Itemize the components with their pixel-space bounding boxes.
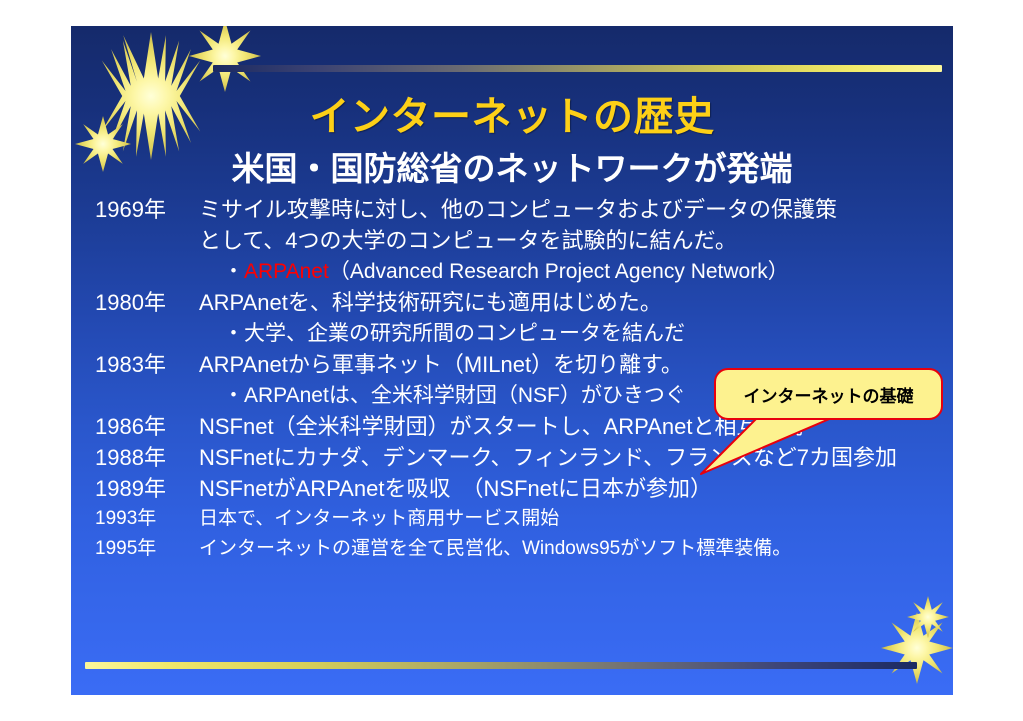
timeline-text: NSFnetがARPAnetを吸収 （NSFnetに日本が参加） — [199, 473, 712, 504]
timeline-year: 1980年 — [95, 287, 199, 318]
timeline-sub-text: ・ARPAnetは、全米科学財団（NSF）がひきつぐ — [95, 380, 686, 411]
arpanet-expansion: （Advanced Research Project Agency Networ… — [329, 260, 789, 283]
timeline-text: ARPAnetから軍事ネット（MILnet）を切り離す。 — [199, 349, 683, 380]
timeline-row: 1989年 NSFnetがARPAnetを吸収 （NSFnetに日本が参加） — [71, 473, 953, 504]
timeline-text: インターネットの運営を全て民営化、Windows95がソフト標準装備。 — [199, 534, 791, 564]
bottom-decorative-bar — [85, 662, 917, 669]
slide-title: インターネットの歴史 — [71, 84, 953, 142]
timeline-year: 1995年 — [95, 534, 199, 564]
star-burst-icon-bottom-right — [881, 612, 953, 684]
timeline-row: 1969年 ミサイル攻撃時に対し、他のコンピュータおよびデータの保護策 — [71, 194, 953, 225]
timeline-year: 1969年 — [95, 194, 199, 225]
bullet-marker: ・ — [223, 260, 244, 283]
timeline-sub-text: ・大学、企業の研究所間のコンピュータを結んだ — [95, 318, 685, 349]
timeline-row-bullet: ・大学、企業の研究所間のコンピュータを結んだ — [71, 318, 953, 349]
timeline-row: 1993年 日本で、インターネット商用サービス開始 — [71, 504, 953, 534]
timeline-sub-text: ・ARPAnet（Advanced Research Project Agenc… — [95, 256, 789, 287]
callout-pointer-tail — [691, 414, 851, 476]
timeline-row: として、4つの大学のコンピュータを試験的に結んだ。 — [71, 225, 953, 256]
timeline-year: 1983年 — [95, 349, 199, 380]
arpanet-highlight: ARPAnet — [244, 260, 329, 283]
callout-label: インターネットの基礎 — [744, 382, 914, 407]
callout-bubble[interactable]: インターネットの基礎 — [714, 368, 943, 420]
timeline-row: 1995年 インターネットの運営を全て民営化、Windows95がソフト標準装備… — [71, 534, 953, 564]
star-burst-icon-bottom-right-small — [907, 596, 949, 638]
timeline-text: 日本で、インターネット商用サービス開始 — [199, 504, 559, 534]
timeline-row: 1980年 ARPAnetを、科学技術研究にも適用はじめた。 — [71, 287, 953, 318]
presentation-slide: インターネットの歴史 米国・国防総省のネットワークが発端 1969年 ミサイル攻… — [71, 26, 953, 695]
timeline-row-bullet-arpanet: ・ARPAnet（Advanced Research Project Agenc… — [71, 256, 953, 287]
slide-subtitle: 米国・国防総省のネットワークが発端 — [71, 142, 953, 190]
top-decorative-bar — [213, 65, 942, 72]
star-burst-icon-medium — [189, 26, 261, 92]
timeline-year: 1988年 — [95, 442, 199, 473]
timeline-text: ミサイル攻撃時に対し、他のコンピュータおよびデータの保護策 — [199, 194, 837, 225]
timeline-text: として、4つの大学のコンピュータを試験的に結んだ。 — [199, 225, 737, 256]
timeline-year: 1989年 — [95, 473, 199, 504]
timeline-text: ARPAnetを、科学技術研究にも適用はじめた。 — [199, 287, 662, 318]
timeline-year: 1993年 — [95, 504, 199, 534]
timeline-year: 1986年 — [95, 411, 199, 442]
